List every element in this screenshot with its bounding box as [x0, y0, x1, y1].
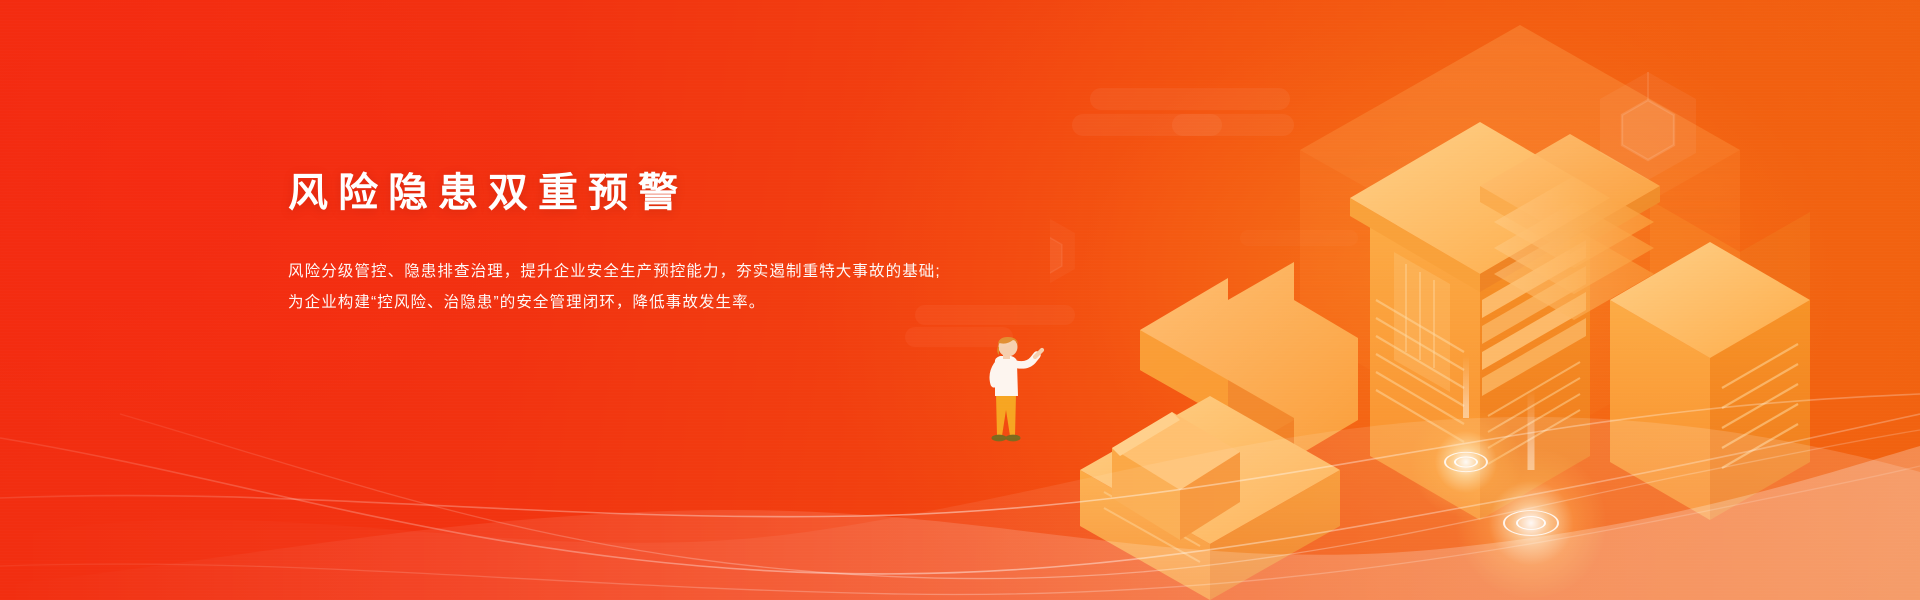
cloud-decoration-3 [1240, 230, 1360, 260]
wave-line-2 [0, 414, 1920, 574]
wave-fill-back [0, 417, 1920, 600]
stacked-discs [1480, 134, 1660, 320]
wave-line-4 [0, 466, 1920, 594]
cross-block-left [1140, 262, 1358, 458]
wave-line-1 [0, 394, 1920, 517]
cloud-decoration-1 [1072, 88, 1292, 148]
tilted-box [1112, 412, 1240, 540]
banner-subtitle-line-1: 风险分级管控、隐患排查治理，提升企业安全生产预控能力，夯实遏制重特大事故的基础; [288, 256, 1008, 287]
tower-center-fins [1482, 240, 1586, 464]
hex-cube-small [1050, 215, 1075, 287]
wave-fill-front [0, 446, 1920, 600]
ghost-slab-right [1650, 200, 1810, 470]
banner-headline: 风险隐患双重预警 [288, 168, 1008, 218]
tower-center-louvres [1376, 300, 1464, 442]
ghost-block [1300, 25, 1740, 455]
tower-center-windows [1394, 252, 1450, 392]
character-shoe-left [992, 435, 1007, 442]
tower-right-lines [1722, 344, 1798, 468]
character-illustration [975, 336, 1065, 456]
character-shoe-right [1006, 435, 1021, 442]
banner-subtitle: 风险分级管控、隐患排查治理，提升企业安全生产预控能力，夯实遏制重特大事故的基础;… [288, 256, 1008, 318]
tower-right [1610, 242, 1810, 520]
platform-box-left [1080, 396, 1340, 600]
character-hand [1035, 350, 1042, 357]
glow-point-1 [1406, 402, 1526, 522]
promo-banner: 风险隐患双重预警 风险分级管控、隐患排查治理，提升企业安全生产预控能力，夯实遏制… [0, 0, 1920, 600]
glow-point-2 [1456, 448, 1606, 598]
tower-center-main [1350, 122, 1610, 520]
wave-decoration [0, 380, 1920, 600]
hex-cube-icon [1588, 68, 1708, 193]
banner-subtitle-line-2: 为企业构建“控风险、治隐患”的安全管理闭环，降低事故发生率。 [288, 287, 1008, 318]
character-pants [996, 394, 1016, 436]
banner-copy: 风险隐患双重预警 风险分级管控、隐患排查治理，提升企业安全生产预控能力，夯实遏制… [288, 168, 1008, 318]
